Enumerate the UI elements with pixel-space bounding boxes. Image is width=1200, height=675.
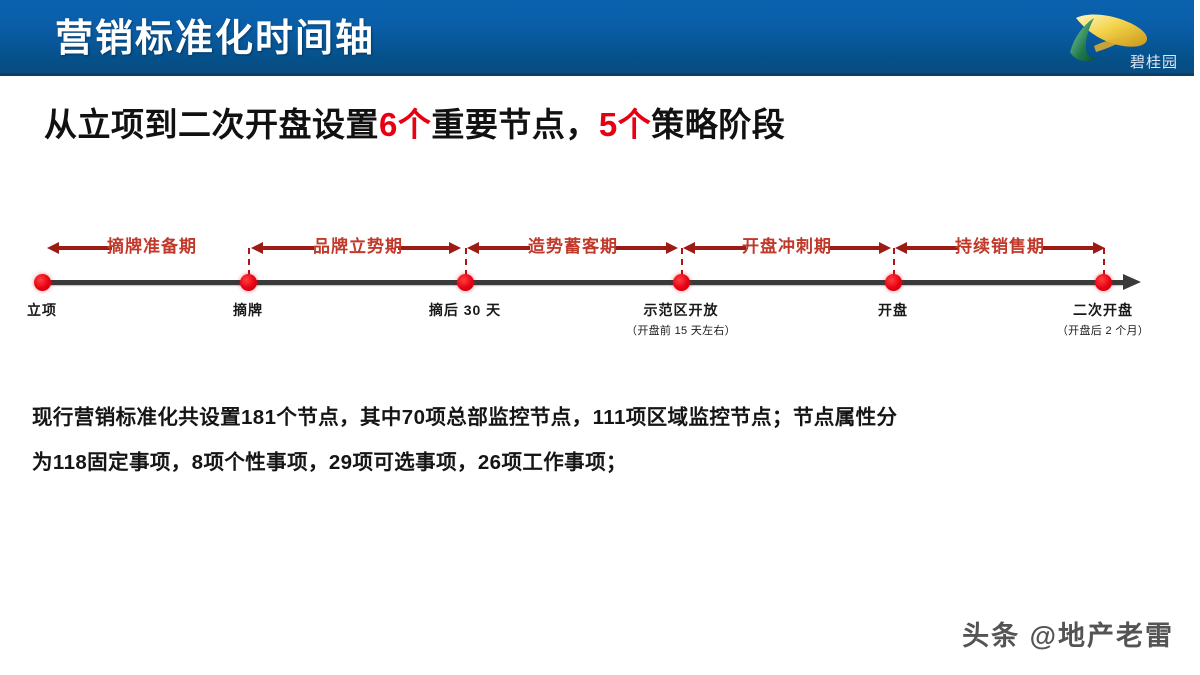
timeline-node-dot	[1095, 274, 1112, 291]
phase-boundary-tick	[248, 248, 250, 276]
subtitle-accent-phases: 5个	[599, 106, 651, 143]
timeline-diagram: 摘牌准备期 品牌立势期 造势蓄客期 开盘冲刺期 持续销售期 立项 摘牌 摘后 3…	[0, 210, 1200, 370]
phase-arrow-right	[615, 246, 667, 250]
page-title: 营销标准化时间轴	[55, 16, 375, 62]
timeline-axis	[42, 280, 1123, 285]
timeline-node-sublabel: （开盘前 15 天左右）	[626, 322, 736, 338]
phase-arrow-left	[478, 246, 530, 250]
timeline-node-label: 摘牌	[233, 300, 263, 320]
timeline-node-dot	[885, 274, 902, 291]
timeline-node-dot	[457, 274, 474, 291]
slide-subtitle: 从立项到二次开盘设置6个重要节点，5个策略阶段	[44, 98, 785, 146]
body-paragraph-line-1: 现行营销标准化共设置181个节点，其中70项总部监控节点，111项区域监控节点；…	[32, 395, 1172, 440]
timeline-node-label: 示范区开放	[644, 300, 719, 320]
phase-boundary-tick	[1103, 248, 1105, 276]
phase-arrow-right	[828, 246, 880, 250]
phase-arrow-left	[694, 246, 746, 250]
header-bar: 营销标准化时间轴	[0, 0, 1200, 76]
phase-label: 造势蓄客期	[528, 232, 618, 257]
subtitle-part-1: 从立项到二次开盘设置	[44, 106, 379, 143]
watermark-label: 头条 @地产老雷	[962, 614, 1174, 653]
timeline-node-label: 开盘	[878, 300, 908, 320]
slide-canvas: 营销标准化时间轴	[0, 0, 1200, 675]
phase-arrow-left	[262, 246, 314, 250]
timeline-node-dot	[34, 274, 51, 291]
timeline-axis-arrowhead-icon	[1123, 274, 1141, 290]
timeline-node-label: 二次开盘	[1073, 300, 1133, 320]
subtitle-accent-nodes: 6个	[379, 106, 431, 143]
body-paragraph: 现行营销标准化共设置181个节点，其中70项总部监控节点，111项区域监控节点；…	[32, 395, 1172, 485]
brand-name-label: 碧桂园	[1130, 51, 1178, 72]
phase-arrow-left	[906, 246, 958, 250]
phase-label: 开盘冲刺期	[742, 232, 832, 257]
timeline-node-label: 摘后 30 天	[429, 300, 501, 320]
body-paragraph-line-2: 为118固定事项，8项个性事项，29项可选事项，26项工作事项；	[32, 440, 1172, 485]
timeline-node-dot	[240, 274, 257, 291]
phase-arrow-right	[1042, 246, 1094, 250]
phase-label: 品牌立势期	[313, 232, 403, 257]
phase-label: 持续销售期	[955, 232, 1045, 257]
timeline-node-sublabel: （开盘后 2 个月）	[1057, 322, 1149, 338]
subtitle-part-3: 策略阶段	[651, 106, 785, 143]
timeline-node-label: 立项	[27, 300, 57, 320]
phase-arrow-left	[58, 246, 112, 250]
phase-label: 摘牌准备期	[107, 232, 197, 257]
phase-boundary-tick	[465, 248, 467, 276]
phase-boundary-tick	[893, 248, 895, 276]
subtitle-part-2: 重要节点，	[431, 106, 599, 143]
phase-arrow-right	[398, 246, 450, 250]
timeline-node-dot	[673, 274, 690, 291]
phase-boundary-tick	[681, 248, 683, 276]
